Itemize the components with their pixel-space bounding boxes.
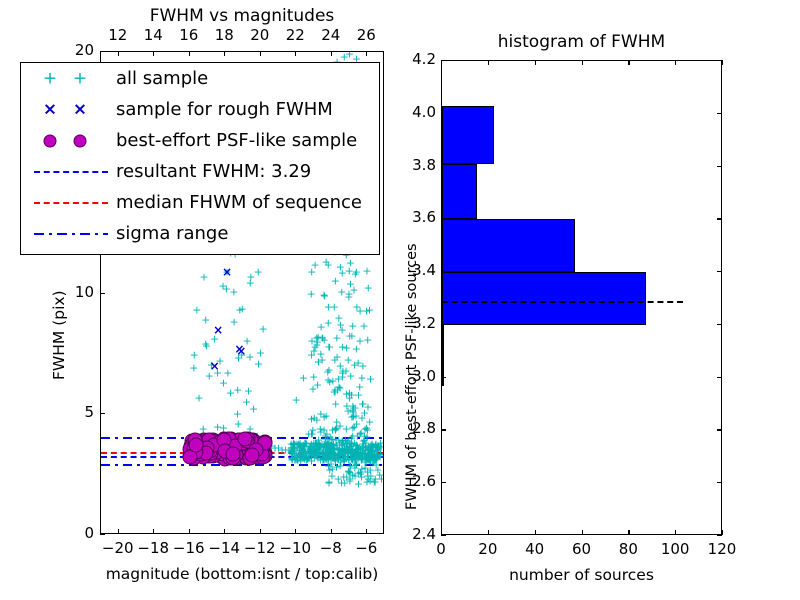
left-panel-x-axis-label: magnitude (bottom:isnt / top:calib) (100, 565, 384, 583)
dashed-line-icon (34, 202, 108, 204)
all-sample-marker: + (345, 266, 354, 277)
all-sample-marker: + (342, 343, 351, 354)
all-sample-marker: + (312, 415, 321, 426)
histogram-bar (442, 272, 646, 325)
histogram-bar (442, 219, 575, 272)
all-sample-marker: + (246, 277, 255, 288)
all-sample-marker: + (354, 451, 363, 462)
rough-fwhm-marker: × (236, 345, 246, 357)
circle-icon (74, 134, 87, 147)
plus-icon: + (73, 70, 87, 87)
histogram-x-tick-label: 20 (464, 540, 512, 558)
all-sample-marker: + (352, 302, 361, 313)
all-sample-marker: + (229, 286, 238, 297)
all-sample-marker: + (338, 366, 347, 377)
psf-sample-marker (188, 437, 203, 452)
all-sample-marker: + (365, 304, 374, 315)
all-sample-marker: + (334, 381, 343, 392)
fwhm-histogram-plot[interactable] (441, 60, 722, 535)
all-sample-marker: + (194, 393, 203, 404)
histogram-x-tick-label: 80 (604, 540, 652, 558)
all-sample-marker: + (344, 292, 353, 303)
all-sample-marker: + (353, 440, 362, 451)
histogram-y-tick-label: 4.2 (398, 50, 436, 68)
all-sample-marker: + (352, 344, 361, 355)
left-panel-title: FWHM vs magnitudes (100, 6, 384, 26)
legend-entry[interactable]: sigma range (21, 218, 379, 249)
all-sample-marker: + (366, 374, 375, 385)
plus-icon: + (43, 70, 57, 87)
all-sample-marker: + (201, 315, 210, 326)
legend-entry[interactable]: ××sample for rough FWHM (21, 94, 379, 125)
all-sample-marker: + (299, 373, 308, 384)
figure-canvas: FWHM vs magnitudes 1214161820222426 −20−… (0, 0, 800, 600)
all-sample-marker: + (371, 439, 380, 450)
legend-label: sample for rough FWHM (114, 99, 333, 120)
histogram-y-tick-label: 2.4 (398, 525, 436, 543)
all-sample-marker: + (292, 394, 301, 405)
legend-marker-dashdot-line (28, 221, 114, 247)
histogram-x-tick-mark-top (722, 60, 723, 65)
legend-entry[interactable]: median FHWM of sequence (21, 187, 379, 218)
left-panel-y-axis-label: FWHM (pix) (50, 290, 68, 380)
all-sample-marker: + (345, 331, 354, 342)
all-sample-marker: + (233, 385, 242, 396)
histogram-x-tick-label: 60 (558, 540, 606, 558)
all-sample-marker: + (256, 348, 265, 359)
all-sample-marker: + (190, 349, 199, 360)
psf-sample-marker (238, 432, 253, 447)
all-sample-marker: + (324, 302, 333, 313)
legend-label: sigma range (114, 223, 228, 244)
histogram-x-tick-label: 100 (651, 540, 699, 558)
legend-label: all sample (114, 68, 208, 89)
all-sample-marker: + (349, 412, 358, 423)
all-sample-marker: + (244, 385, 253, 396)
histogram-y-tick-label: 4.0 (398, 103, 436, 121)
all-sample-marker: + (363, 401, 372, 412)
x-icon: × (73, 101, 87, 118)
x-icon: × (43, 101, 57, 118)
left-y-tick-mark (100, 534, 105, 535)
legend-marker-dashed-line (28, 159, 114, 185)
all-sample-marker: + (331, 398, 340, 409)
histogram-y-tick-label: 3.8 (398, 156, 436, 174)
legend-marker-x: ×× (28, 97, 114, 123)
histogram-y-tick-mark (441, 535, 446, 536)
all-sample-marker: + (254, 267, 263, 278)
all-sample-marker: + (359, 320, 368, 331)
left-y-tick-label: 5 (58, 403, 94, 421)
all-sample-marker: + (334, 445, 343, 456)
right-panel-title: histogram of FWHM (441, 32, 722, 52)
all-sample-marker: + (235, 305, 244, 316)
all-sample-marker: + (363, 334, 372, 345)
histogram-canvas (442, 61, 721, 534)
all-sample-marker: + (324, 476, 333, 487)
histogram-x-tick-label: 40 (511, 540, 559, 558)
rough-fwhm-marker: × (213, 324, 223, 336)
all-sample-marker: + (192, 305, 201, 316)
all-sample-marker: + (189, 362, 198, 373)
legend-marker-plus: ++ (28, 66, 114, 92)
histogram-x-axis-label: number of sources (441, 566, 722, 584)
psf-sample-marker (225, 447, 240, 462)
legend-label: best-effort PSF-like sample (114, 130, 357, 151)
all-sample-marker: + (312, 448, 321, 459)
all-sample-marker: + (364, 283, 373, 294)
left-y-tick-label: 20 (58, 41, 94, 59)
legend-entry[interactable]: ++all sample (21, 63, 379, 94)
all-sample-marker: + (321, 411, 330, 422)
all-sample-marker: + (218, 281, 227, 292)
histogram-bar (442, 106, 494, 164)
all-sample-marker: + (202, 340, 211, 351)
top-tick-label: 26 (344, 26, 388, 44)
all-sample-marker: + (319, 289, 328, 300)
legend-label: median FHWM of sequence (114, 192, 362, 213)
rough-fwhm-marker: × (210, 360, 220, 372)
all-sample-marker: + (346, 279, 355, 290)
all-sample-marker: + (357, 413, 366, 424)
histogram-y-axis-label: FWHM of best-effort PSF-like sources (404, 243, 420, 510)
left-y-tick-label: 0 (58, 524, 94, 542)
all-sample-marker: + (322, 257, 331, 268)
all-sample-marker: + (369, 455, 378, 466)
histogram-x-tick-label: 120 (698, 540, 746, 558)
all-sample-marker: + (316, 349, 325, 360)
histogram-y-tick-mark-right (717, 535, 722, 536)
all-sample-marker: + (311, 260, 320, 271)
all-sample-marker: + (230, 317, 239, 328)
all-sample-marker: + (309, 371, 318, 382)
histogram-bar (442, 325, 444, 386)
legend-marker-dashed-line (28, 190, 114, 216)
all-sample-marker: + (213, 421, 222, 432)
all-sample-marker: + (353, 358, 362, 369)
all-sample-marker: + (366, 471, 375, 482)
bottom-tick-label: −6 (344, 539, 388, 557)
histogram-resultant-fwhm-line (442, 301, 683, 303)
dashdot-line-icon (34, 233, 108, 235)
all-sample-marker: + (362, 266, 371, 277)
histogram-y-tick-label: 3.6 (398, 208, 436, 226)
all-sample-marker: + (223, 368, 232, 379)
circle-icon (44, 134, 57, 147)
all-sample-marker: + (332, 417, 341, 428)
legend-entry[interactable]: resultant FWHM: 3.29 (21, 156, 379, 187)
histogram-bar (442, 164, 477, 219)
legend-entry[interactable]: best-effort PSF-like sample (21, 125, 379, 156)
all-sample-marker: + (308, 383, 317, 394)
all-sample-marker: + (324, 318, 333, 329)
legend-label: resultant FWHM: 3.29 (114, 161, 311, 182)
all-sample-marker: + (318, 332, 327, 343)
all-sample-marker: + (254, 359, 263, 370)
all-sample-marker: + (233, 409, 242, 420)
psf-sample-marker (245, 447, 260, 462)
histogram-x-tick-mark (722, 530, 723, 535)
all-sample-marker: + (199, 271, 208, 282)
all-sample-marker: + (287, 453, 296, 464)
legend-box[interactable]: ++all sample××sample for rough FWHMbest-… (20, 62, 380, 255)
all-sample-marker: + (249, 404, 258, 415)
all-sample-marker: + (258, 324, 267, 335)
dashed-line-icon (34, 171, 108, 173)
legend-marker-dot (28, 128, 114, 154)
all-sample-marker: + (350, 471, 359, 482)
rough-fwhm-marker: × (222, 266, 232, 278)
all-sample-marker: + (307, 288, 316, 299)
all-sample-marker: + (336, 319, 345, 330)
all-sample-marker: + (357, 373, 366, 384)
